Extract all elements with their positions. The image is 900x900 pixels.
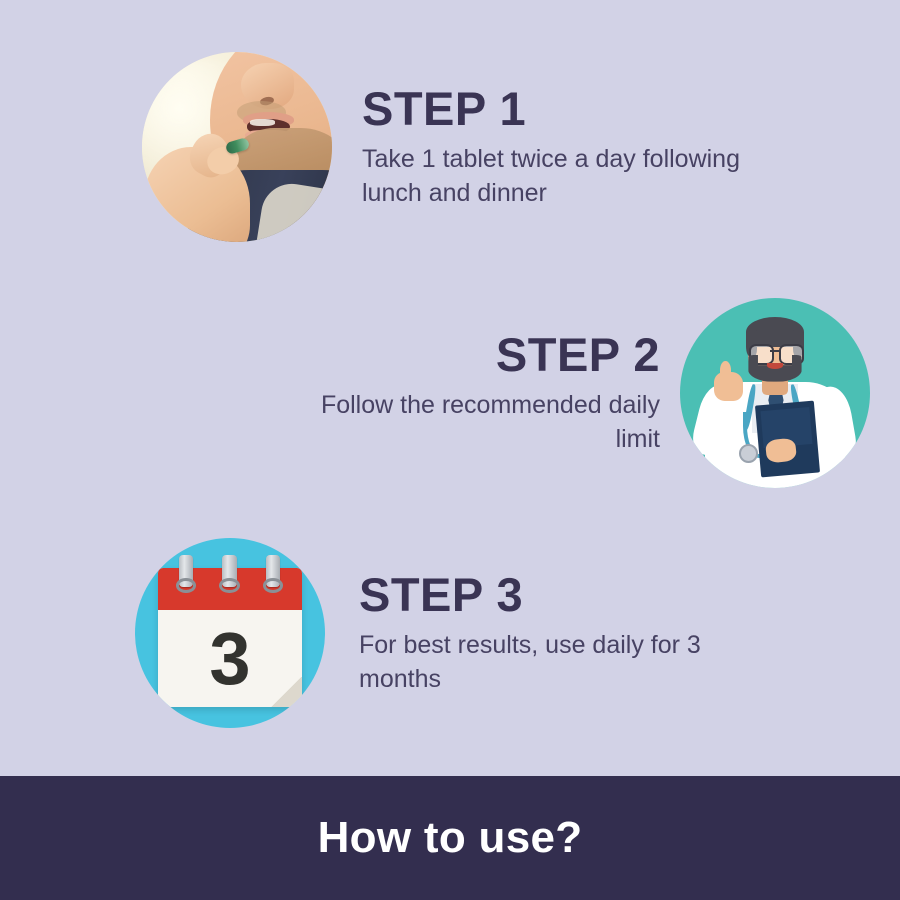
step-2-media bbox=[680, 298, 870, 488]
teeth-shape bbox=[250, 119, 275, 125]
step-1-copy: STEP 1 Take 1 tablet twice a day followi… bbox=[332, 84, 780, 209]
step-3-description: For best results, use daily for 3 months bbox=[359, 628, 759, 696]
calendar-ring-1 bbox=[179, 555, 193, 587]
thumbs-up-thumb bbox=[720, 361, 731, 380]
step-1-title: STEP 1 bbox=[362, 84, 780, 133]
step-3-title: STEP 3 bbox=[359, 570, 790, 619]
step-3-copy: STEP 3 For best results, use daily for 3… bbox=[325, 570, 790, 695]
doctor-holding-hand bbox=[764, 437, 797, 463]
step-1-description: Take 1 tablet twice a day following lunc… bbox=[362, 142, 742, 210]
step-1-media bbox=[142, 52, 332, 242]
man-taking-tablet-photo bbox=[142, 52, 332, 242]
calendar-ring-3 bbox=[266, 555, 280, 587]
step-2-title: STEP 2 bbox=[120, 330, 660, 379]
calendar-icon: 3 bbox=[135, 538, 325, 728]
step-row-1: STEP 1 Take 1 tablet twice a day followi… bbox=[0, 52, 780, 242]
doctor-eyebrow-left bbox=[751, 338, 768, 342]
doctor-mouth bbox=[767, 363, 782, 369]
step-2-description: Follow the recommended daily limit bbox=[280, 388, 660, 456]
step-row-2: STEP 2 Follow the recommended daily limi… bbox=[120, 298, 900, 488]
footer-banner: How to use? bbox=[0, 776, 900, 900]
doctor-eyebrow-right bbox=[781, 338, 798, 342]
how-to-use-infographic: STEP 1 Take 1 tablet twice a day followi… bbox=[0, 0, 900, 900]
step-3-media: 3 bbox=[135, 538, 325, 728]
doctor-thumbs-up-illustration bbox=[680, 298, 870, 488]
calendar-page-curl bbox=[270, 677, 302, 708]
footer-title: How to use? bbox=[318, 813, 583, 863]
step-row-3: 3 STEP 3 For best results, use daily for… bbox=[0, 538, 790, 728]
glasses-bridge bbox=[770, 350, 779, 352]
step-2-copy: STEP 2 Follow the recommended daily limi… bbox=[120, 330, 680, 455]
calendar-ring-2 bbox=[222, 555, 236, 587]
